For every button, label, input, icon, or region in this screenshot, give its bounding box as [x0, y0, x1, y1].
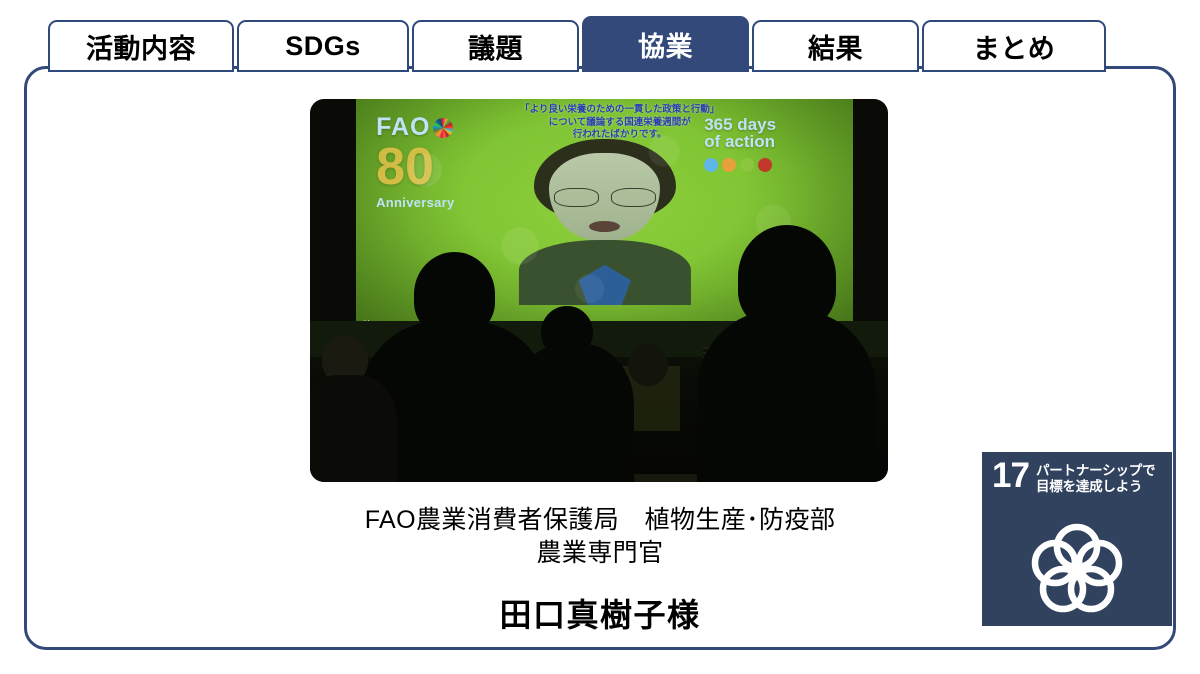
- globe-icon: [704, 158, 718, 172]
- sdg-color-wheel-icon: [433, 118, 453, 138]
- campaign-line-1: 365 days: [704, 116, 838, 134]
- leaf-icon: [740, 158, 754, 172]
- presentation-photo: FAO 80 Anniversary 「より良い栄養のための一貫した政策と行動」…: [310, 99, 888, 482]
- campaign-line-2: of action: [704, 133, 838, 151]
- tab-activity[interactable]: 活動内容: [48, 20, 234, 72]
- photo-inner: FAO 80 Anniversary 「より良い栄養のための一貫した政策と行動」…: [310, 99, 888, 482]
- anniversary-label: Anniversary: [376, 195, 545, 210]
- tab-bar: 活動内容 SDGs 議題 協業 結果 まとめ: [48, 14, 1106, 72]
- bowl-icon: [722, 158, 736, 172]
- tab-collaboration[interactable]: 協業: [582, 16, 749, 72]
- speaker-video-figure: [528, 139, 682, 296]
- tab-summary[interactable]: まとめ: [922, 20, 1106, 72]
- tab-results[interactable]: 結果: [752, 20, 919, 72]
- sdg-goal-number: 17: [992, 461, 1029, 491]
- sdg-goal-17-badge: 17 パートナーシップで 目標を達成しよう: [982, 452, 1172, 626]
- campaign-block: 365 days of action: [704, 116, 838, 173]
- anniversary-number: 80: [376, 144, 545, 191]
- heart-icon: [758, 158, 772, 172]
- audience-body-middle: [512, 344, 633, 482]
- audience-body-right: [697, 310, 876, 482]
- sdg-goal-text: パートナーシップで 目標を達成しよう: [1036, 461, 1155, 496]
- tab-agenda[interactable]: 議題: [412, 20, 579, 72]
- tab-sdgs[interactable]: SDGs: [237, 20, 409, 72]
- campaign-icon-row: [704, 158, 838, 172]
- sdg-goal-text-line-1: パートナーシップで: [1036, 463, 1155, 479]
- sdg-badge-header: 17 パートナーシップで 目標を達成しよう: [982, 452, 1172, 496]
- partnership-rings-icon: [1027, 520, 1127, 620]
- speaker-glasses-icon: [554, 188, 656, 205]
- sdg-goal-text-line-2: 目標を達成しよう: [1036, 479, 1155, 495]
- audience-body-far-left: [310, 375, 397, 482]
